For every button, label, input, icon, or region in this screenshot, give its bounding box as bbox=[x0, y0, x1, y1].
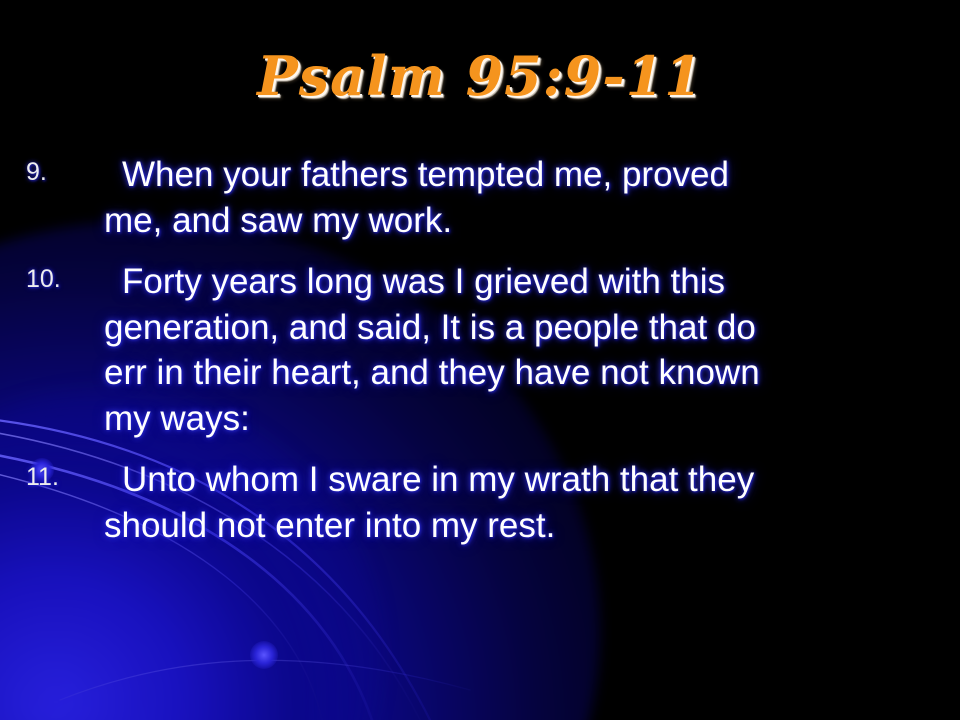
verse-number-10: 10. bbox=[26, 267, 86, 292]
verse-line: generation, and said, It is a people tha… bbox=[104, 305, 916, 351]
verse-item-10: 10. Forty years long was I grieved with … bbox=[26, 259, 916, 441]
verse-list: 9. When your fathers tempted me, proved … bbox=[26, 152, 916, 564]
verse-number-11: 11. bbox=[26, 465, 86, 490]
verse-number-9: 9. bbox=[26, 160, 86, 185]
verse-item-9: 9. When your fathers tempted me, proved … bbox=[26, 152, 916, 243]
arc-node-dot-lower bbox=[250, 641, 278, 669]
verse-line: Unto whom I sware in my wrath that they bbox=[104, 457, 916, 503]
verse-item-11: 11. Unto whom I sware in my wrath that t… bbox=[26, 457, 916, 548]
verse-text-11: Unto whom I sware in my wrath that they … bbox=[104, 457, 916, 548]
verse-line: err in their heart, and they have not kn… bbox=[104, 350, 916, 396]
verse-line: me, and saw my work. bbox=[104, 198, 916, 244]
verse-line: When your fathers tempted me, proved bbox=[104, 152, 916, 198]
verse-text-10: Forty years long was I grieved with this… bbox=[104, 259, 916, 441]
presentation-slide: Psalm 95:9-11 9. When your fathers tempt… bbox=[0, 0, 960, 720]
verse-text-9: When your fathers tempted me, proved me,… bbox=[104, 152, 916, 243]
verse-line: should not enter into my rest. bbox=[104, 503, 916, 549]
verse-line: my ways: bbox=[104, 396, 916, 442]
verse-line: Forty years long was I grieved with this bbox=[104, 259, 916, 305]
slide-title: Psalm 95:9-11 bbox=[0, 44, 960, 108]
